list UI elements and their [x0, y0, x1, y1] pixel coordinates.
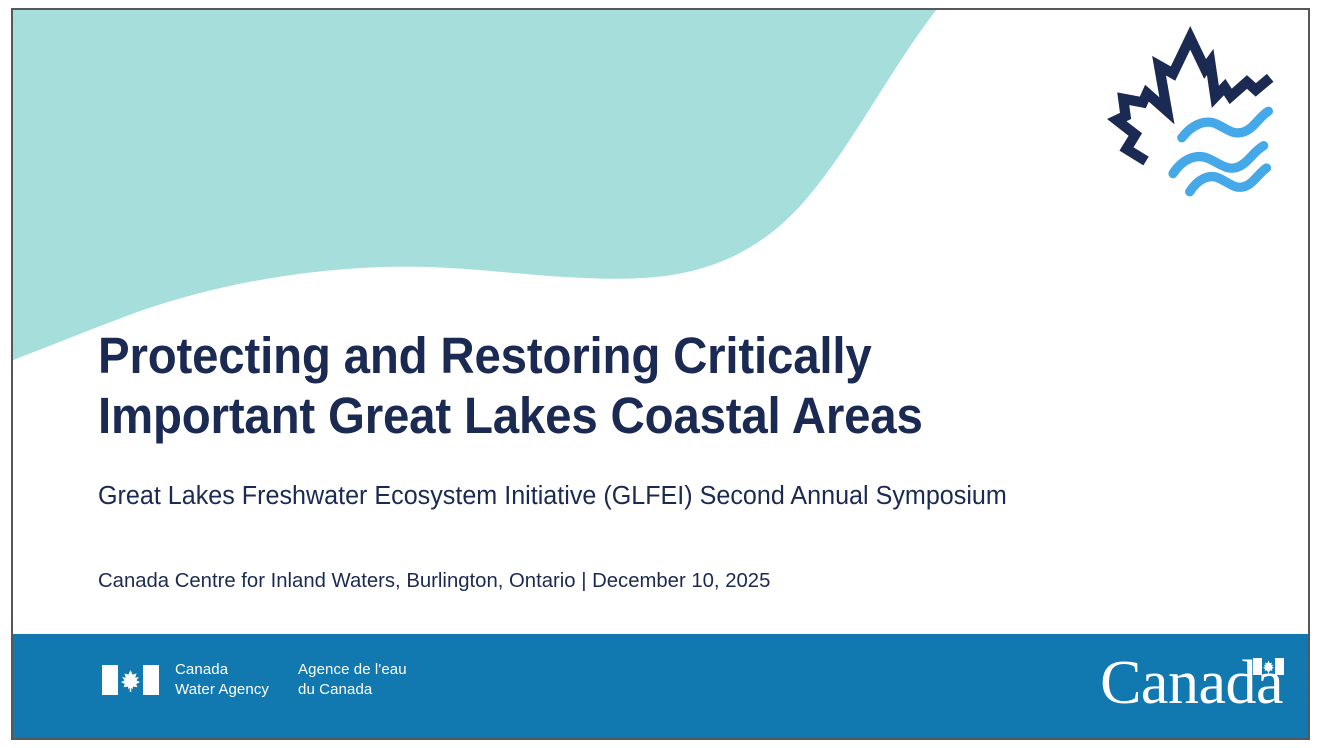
venue-and-date: Canada Centre for Inland Waters, Burling…: [98, 512, 1207, 594]
page-title: Protecting and Restoring Critically Impo…: [98, 326, 1140, 446]
presentation-slide: Protecting and Restoring Critically Impo…: [11, 8, 1310, 740]
maple-leaf-water-logo: [1100, 22, 1286, 208]
canada-wordmark: Canada: [1100, 652, 1284, 714]
signature-french: Agence de l'eau du Canada: [298, 660, 407, 699]
footer-bar: Canada Water Agency Agence de l'eau du C…: [13, 634, 1308, 738]
canada-flag-icon: [102, 665, 159, 695]
signature-english: Canada Water Agency: [175, 660, 269, 699]
slide-subtitle: Great Lakes Freshwater Ecosystem Initiat…: [98, 446, 1201, 512]
canada-flag-icon: [1253, 658, 1284, 675]
canada-water-agency-signature: Canada Water Agency Agence de l'eau du C…: [102, 660, 407, 699]
title-block: Protecting and Restoring Critically Impo…: [98, 326, 1218, 594]
